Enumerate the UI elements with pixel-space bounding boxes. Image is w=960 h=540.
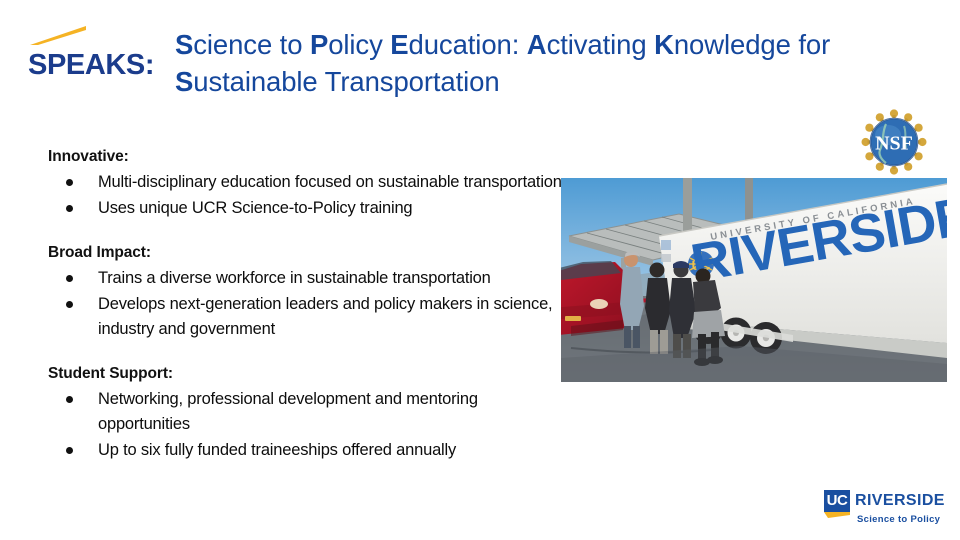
block-heading: Innovative: <box>48 146 568 168</box>
bullet-dot-icon <box>66 205 73 212</box>
title-capital: S <box>175 66 193 97</box>
bullet-list: Networking, professional development and… <box>48 387 568 463</box>
title-text: nowledge for <box>674 29 830 60</box>
slide-title: Science to Policy Education: Activating … <box>175 26 950 100</box>
content-block-innovative: Innovative: Multi-disciplinary education… <box>48 146 568 221</box>
content-block-student-support: Student Support: Networking, professiona… <box>48 363 568 463</box>
car-headlight <box>590 299 608 309</box>
title-capital: P <box>310 29 328 60</box>
title-capital: E <box>390 29 408 60</box>
bullet-list: Multi-disciplinary education focused on … <box>48 170 568 221</box>
ucr-tagline: Science to Policy <box>857 514 940 526</box>
list-item-text: Up to six fully funded traineeships offe… <box>98 441 456 459</box>
bullet-dot-icon <box>66 447 73 454</box>
list-item-text: Multi-disciplinary education focused on … <box>98 173 562 191</box>
bullet-list: Trains a diverse workforce in sustainabl… <box>48 266 568 342</box>
red-electric-car <box>561 261 627 336</box>
list-item-text: Develops next-generation leaders and pol… <box>98 295 552 338</box>
block-heading: Broad Impact: <box>48 242 568 264</box>
title-text: ustainable Transportation <box>193 66 499 97</box>
content-block-broad-impact: Broad Impact: Trains a diverse workforce… <box>48 242 568 342</box>
bullet-dot-icon <box>66 301 73 308</box>
speaks-logo: SPEAKS: <box>28 24 168 86</box>
list-item: Multi-disciplinary education focused on … <box>48 170 568 195</box>
list-item-text: Uses unique UCR Science-to-Policy traini… <box>98 199 412 217</box>
list-item: Networking, professional development and… <box>48 387 568 437</box>
title-capital: S <box>175 29 193 60</box>
gold-swoosh-icon <box>824 512 850 518</box>
slide-header: SPEAKS: Science to Policy Education: Act… <box>0 0 960 112</box>
title-text: ducation: <box>409 29 527 60</box>
title-capital: K <box>654 29 674 60</box>
block-heading: Student Support: <box>48 363 568 385</box>
uc-badge: UC <box>824 490 850 512</box>
light-pole <box>745 178 753 222</box>
list-item: Uses unique UCR Science-to-Policy traini… <box>48 196 568 221</box>
title-text: olicy <box>328 29 390 60</box>
bullet-dot-icon <box>66 396 73 403</box>
gold-swoosh-icon <box>30 26 88 46</box>
content-column: Innovative: Multi-disciplinary education… <box>48 146 568 484</box>
list-item-text: Networking, professional development and… <box>98 390 478 433</box>
list-item: Trains a diverse workforce in sustainabl… <box>48 266 568 291</box>
title-text: ctivating <box>547 29 655 60</box>
title-capital: A <box>527 29 547 60</box>
list-item: Up to six fully funded traineeships offe… <box>48 438 568 463</box>
speaks-wordmark: SPEAKS: <box>28 48 154 82</box>
ucr-science-to-policy-logo: UC RIVERSIDE Science to Policy <box>824 490 942 530</box>
bullet-dot-icon <box>66 275 73 282</box>
list-item: Develops next-generation leaders and pol… <box>48 292 568 342</box>
ucr-trailer-photo: UC UNIVERSITY OF CALIFORNIA RIVERSIDE <box>561 178 947 382</box>
title-text: cience to <box>193 29 310 60</box>
bullet-dot-icon <box>66 179 73 186</box>
nsf-logo: NSF <box>860 108 928 176</box>
nsf-lettering: NSF <box>875 133 913 155</box>
list-item-text: Trains a diverse workforce in sustainabl… <box>98 269 491 287</box>
ucr-wordmark: RIVERSIDE <box>855 492 945 510</box>
